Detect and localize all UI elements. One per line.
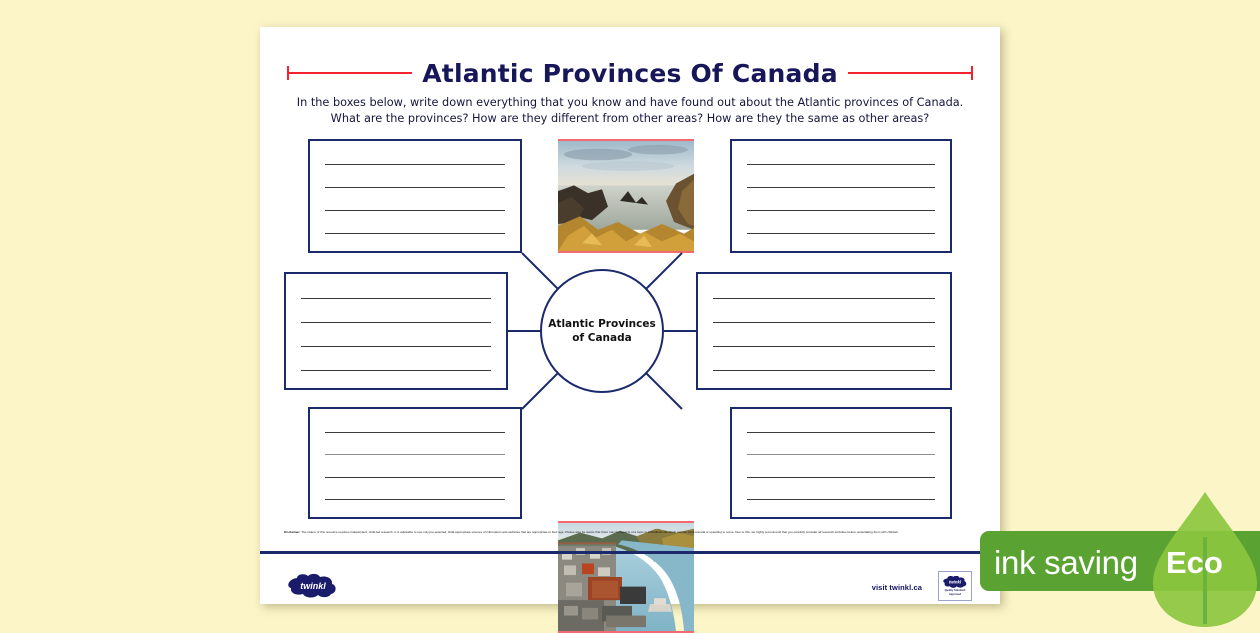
answer-box-bottom-left[interactable] (308, 407, 522, 519)
writing-line (747, 432, 935, 433)
answer-box-bottom-right[interactable] (730, 407, 952, 519)
writing-line (325, 499, 505, 500)
badge-caption: Quality Standard Approved (939, 589, 971, 596)
page-title: Atlantic Provinces Of Canada (422, 59, 838, 88)
disclaimer-label: Disclaimer: (284, 530, 300, 534)
eco-text: Eco (1166, 545, 1223, 581)
svg-text:twinkl: twinkl (300, 581, 326, 591)
answer-box-middle-right[interactable] (696, 272, 952, 390)
answer-box-middle-left[interactable] (284, 272, 508, 390)
writing-line (747, 477, 935, 478)
mind-map-grid: Atlantic Provinces of Canada (284, 139, 976, 519)
svg-text:twinkl: twinkl (949, 580, 962, 585)
writing-line (747, 454, 935, 455)
writing-line (325, 454, 505, 455)
photo-coastal-cliffs (558, 139, 694, 253)
writing-line (747, 164, 935, 165)
writing-line (301, 322, 491, 323)
ink-saving-text: ink saving (994, 544, 1138, 582)
instructions-text: In the boxes below, write down everythin… (286, 95, 974, 126)
writing-line (325, 432, 505, 433)
photo-harbour-city (558, 521, 694, 633)
writing-line (325, 164, 505, 165)
writing-line (747, 187, 935, 188)
worksheet-page: Atlantic Provinces Of Canada In the boxe… (260, 27, 1000, 604)
writing-line (747, 210, 935, 211)
disclaimer: Disclaimer: The nature of this resource … (284, 530, 976, 535)
title-row: Atlantic Provinces Of Canada (284, 55, 976, 91)
writing-line (747, 233, 935, 234)
eco-watermark: ink saving Eco (970, 489, 1260, 630)
answer-box-top-left[interactable] (308, 139, 522, 253)
writing-line (713, 370, 935, 371)
answer-box-top-right[interactable] (730, 139, 952, 253)
writing-line (747, 499, 935, 500)
writing-line (301, 346, 491, 347)
visit-twinkl-link[interactable]: visit twinkl.ca (872, 583, 922, 592)
twinkl-badge-cloud: twinkl (942, 576, 968, 588)
writing-line (713, 322, 935, 323)
title-rule-right (848, 66, 976, 80)
writing-line (325, 187, 505, 188)
writing-line (301, 370, 491, 371)
writing-line (325, 210, 505, 211)
writing-line (325, 477, 505, 478)
twinkl-logo[interactable]: twinkl (285, 573, 341, 599)
center-node: Atlantic Provinces of Canada (540, 269, 664, 393)
writing-line (713, 346, 935, 347)
title-rule-left (284, 66, 412, 80)
disclaimer-body: The nature of this resource requires ind… (300, 530, 899, 534)
writing-line (713, 298, 935, 299)
quality-standard-badge: twinkl Quality Standard Approved (938, 571, 972, 601)
writing-line (325, 233, 505, 234)
center-node-label: Atlantic Provinces of Canada (548, 317, 655, 345)
footer-divider (260, 551, 1000, 554)
writing-line (301, 298, 491, 299)
